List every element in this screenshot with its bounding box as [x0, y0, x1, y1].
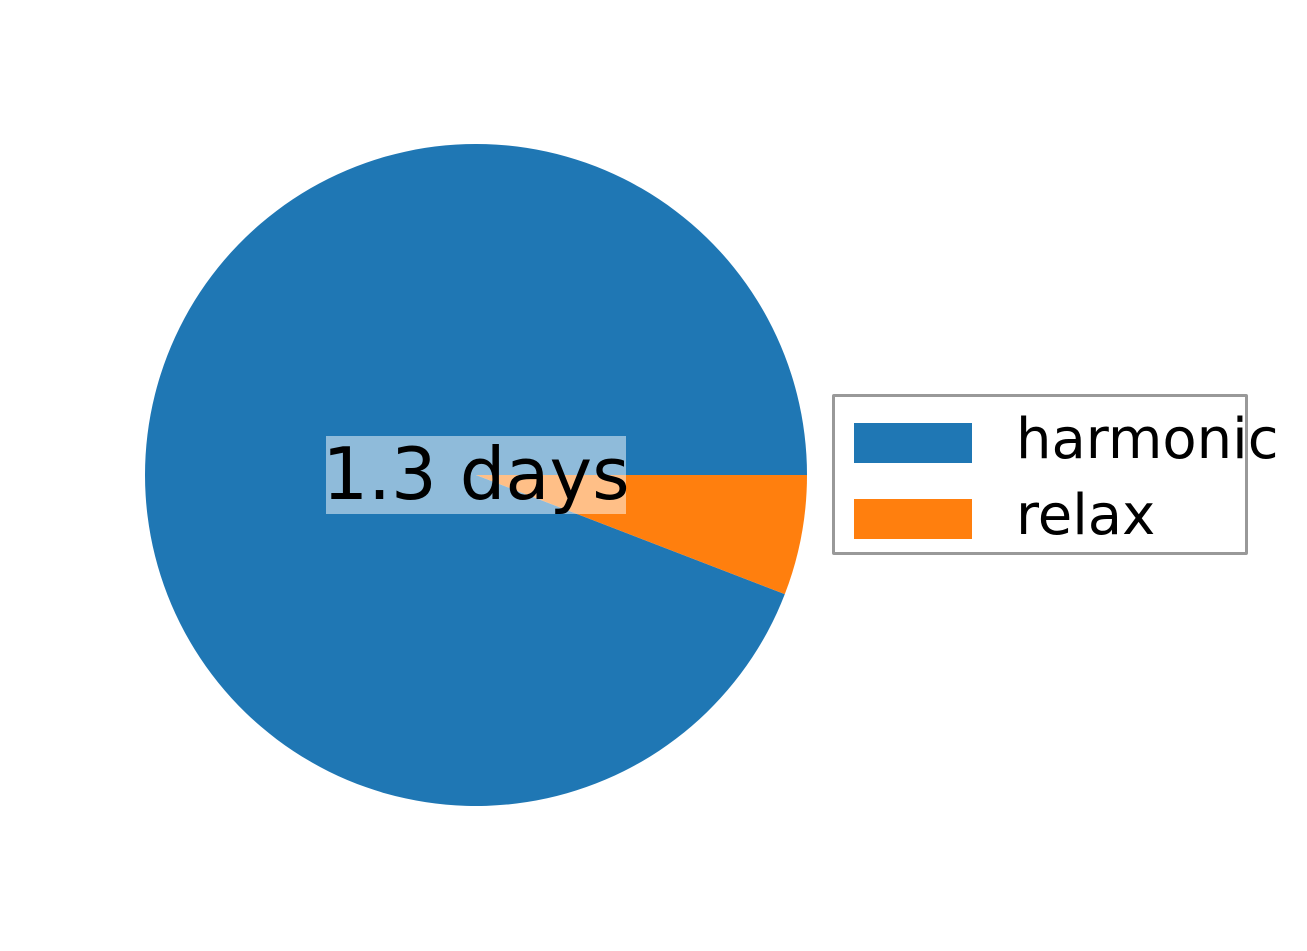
wedge-label-text: 1.3 days [322, 438, 629, 513]
wedge-label-harmonic: 1.3 days [326, 436, 626, 514]
legend-swatch-relax [854, 499, 972, 539]
legend-label-harmonic: harmonic [1016, 412, 1279, 474]
pie-chart-figure: 1.3 days harmonic relax [0, 0, 1307, 951]
legend-entry-harmonic[interactable]: harmonic [835, 411, 1245, 475]
legend-swatch-harmonic [854, 423, 972, 463]
chart-legend: harmonic relax [832, 394, 1248, 555]
legend-label-relax: relax [1016, 488, 1155, 550]
legend-entry-relax[interactable]: relax [835, 487, 1245, 551]
